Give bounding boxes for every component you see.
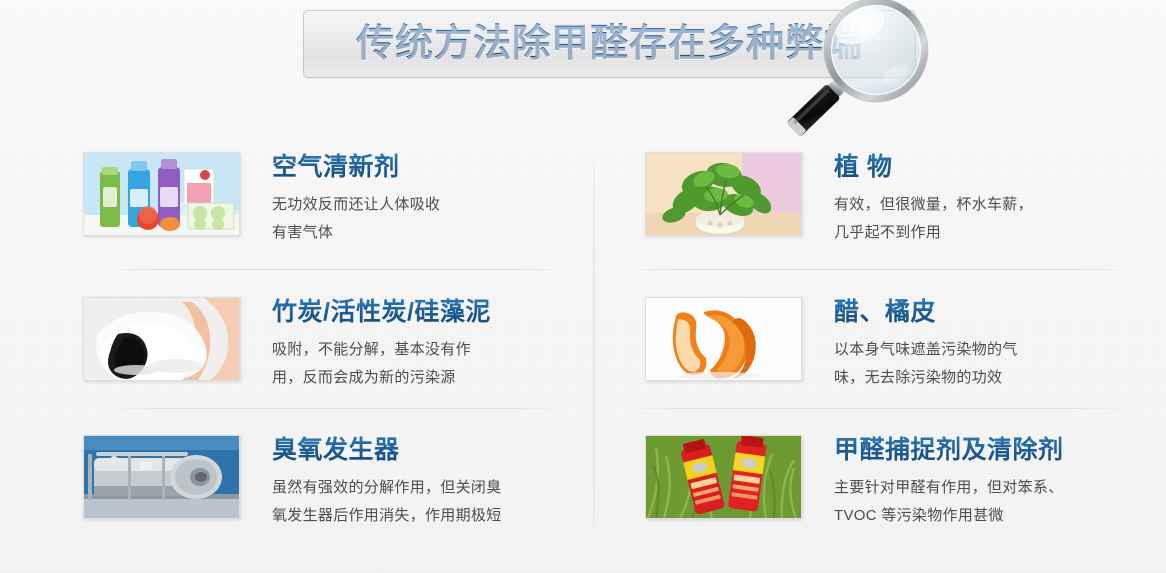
- method-description-line: 以本身气味遮盖污染物的气: [834, 336, 1018, 364]
- method-description-line: 用，反而会成为新的污染源: [272, 364, 491, 392]
- method-text-block: 臭氧发生器 虽然有强效的分解作用，但关闭臭 氧发生器后作用消失，作用期极短: [272, 435, 502, 530]
- method-description: 有效，但很微量，杯水车薪， 几乎起不到作用: [834, 191, 1033, 247]
- method-description-line: 有害气体: [272, 219, 440, 247]
- method-title: 臭氧发生器: [272, 435, 502, 465]
- method-item-orange-peel: 醋、橘皮 以本身气味遮盖污染物的气 味，无去除污染物的功效: [645, 297, 1145, 392]
- method-title: 竹炭/活性炭/硅藻泥: [272, 297, 491, 327]
- green-plant-photo: [645, 152, 802, 236]
- method-description: 主要针对甲醛有作用，但对笨系、 TVOC 等污染物作用甚微: [834, 474, 1064, 530]
- method-text-block: 甲醛捕捉剂及清除剂 主要针对甲醛有作用，但对笨系、 TVOC 等污染物作用甚微: [834, 435, 1064, 530]
- method-description: 以本身气味遮盖污染物的气 味，无去除污染物的功效: [834, 336, 1018, 392]
- row-divider-left-2: [105, 408, 565, 409]
- ozone-generator-photo: [83, 435, 240, 519]
- row-divider-right-2: [622, 408, 1132, 409]
- method-description-line: 吸附，不能分解，基本没有作: [272, 336, 491, 364]
- orange-peel-photo: [645, 297, 802, 381]
- page-title: 传统方法除甲醛存在多种弊端: [303, 16, 916, 72]
- method-description: 无功效反而还让人体吸收 有害气体: [272, 191, 440, 247]
- column-divider: [593, 138, 595, 550]
- method-description-line: 氧发生器后作用消失，作用期极短: [272, 502, 502, 530]
- row-divider-left-1: [105, 269, 565, 270]
- title-banner: 传统方法除甲醛存在多种弊端: [303, 10, 916, 78]
- method-description-line: 味，无去除污染物的功效: [834, 364, 1018, 392]
- method-description-line: TVOC 等污染物作用甚微: [834, 502, 1064, 530]
- method-text-block: 竹炭/活性炭/硅藻泥 吸附，不能分解，基本没有作 用，反而会成为新的污染源: [272, 297, 491, 392]
- method-description: 虽然有强效的分解作用，但关闭臭 氧发生器后作用消失，作用期极短: [272, 474, 502, 530]
- methods-grid: 空气清新剂 无功效反而还让人体吸收 有害气体: [0, 130, 1166, 560]
- method-title: 空气清新剂: [272, 152, 440, 182]
- method-description-line: 几乎起不到作用: [834, 219, 1033, 247]
- method-description-line: 无功效反而还让人体吸收: [272, 191, 440, 219]
- method-item-bamboo-charcoal: 竹炭/活性炭/硅藻泥 吸附，不能分解，基本没有作 用，反而会成为新的污染源: [83, 297, 583, 392]
- method-item-plant: 植 物 有效，但很微量，杯水车薪， 几乎起不到作用: [645, 152, 1145, 247]
- method-item-formaldehyde-remover: 甲醛捕捉剂及清除剂 主要针对甲醛有作用，但对笨系、 TVOC 等污染物作用甚微: [645, 435, 1145, 530]
- method-text-block: 空气清新剂 无功效反而还让人体吸收 有害气体: [272, 152, 440, 247]
- method-text-block: 醋、橘皮 以本身气味遮盖污染物的气 味，无去除污染物的功效: [834, 297, 1018, 392]
- method-item-ozone-generator: 臭氧发生器 虽然有强效的分解作用，但关闭臭 氧发生器后作用消失，作用期极短: [83, 435, 583, 530]
- method-title: 醋、橘皮: [834, 297, 1018, 327]
- method-description: 吸附，不能分解，基本没有作 用，反而会成为新的污染源: [272, 336, 491, 392]
- method-title: 甲醛捕捉剂及清除剂: [834, 435, 1064, 465]
- row-divider-right-1: [622, 269, 1132, 270]
- formaldehyde-remover-photo: [645, 435, 802, 519]
- method-title: 植 物: [834, 152, 1033, 182]
- method-text-block: 植 物 有效，但很微量，杯水车薪， 几乎起不到作用: [834, 152, 1033, 247]
- method-description-line: 虽然有强效的分解作用，但关闭臭: [272, 474, 502, 502]
- method-item-air-freshener: 空气清新剂 无功效反而还让人体吸收 有害气体: [83, 152, 583, 247]
- method-description-line: 主要针对甲醛有作用，但对笨系、: [834, 474, 1064, 502]
- method-description-line: 有效，但很微量，杯水车薪，: [834, 191, 1033, 219]
- air-freshener-photo: [83, 152, 240, 236]
- bamboo-charcoal-photo: [83, 297, 240, 381]
